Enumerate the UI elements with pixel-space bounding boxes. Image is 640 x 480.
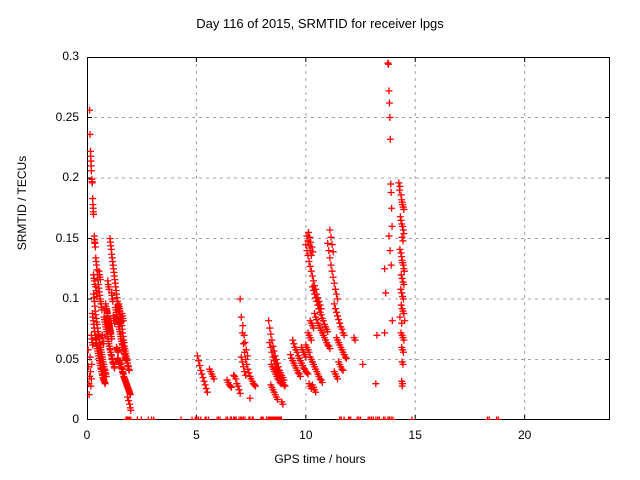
data-point-marker (311, 310, 318, 317)
data-point-marker (238, 314, 245, 321)
data-point-marker (89, 179, 96, 186)
data-point-marker (308, 252, 315, 259)
data-point-marker (306, 258, 313, 265)
data-point-marker (138, 417, 145, 421)
data-point-marker (237, 390, 244, 397)
data-point-marker (388, 262, 395, 269)
data-point-marker (400, 230, 407, 237)
data-point-marker (381, 265, 388, 272)
data-point-marker (250, 417, 257, 421)
x-tick-label: 15 (385, 428, 445, 442)
data-point-marker (381, 329, 388, 336)
data-point-marker (236, 386, 243, 393)
data-point-marker (331, 300, 338, 307)
data-point-marker (87, 391, 93, 398)
y-tick-label: 0.05 (1, 352, 79, 366)
data-point-marker (399, 275, 406, 282)
data-point-marker (387, 181, 394, 188)
x-tick-label: 10 (276, 428, 336, 442)
x-tick-label: 20 (495, 428, 555, 442)
data-point-marker (89, 195, 96, 202)
data-point-marker (197, 367, 204, 374)
data-point-marker (88, 167, 95, 174)
data-point-marker (384, 60, 391, 67)
data-point-marker (385, 233, 392, 240)
data-point-marker (359, 361, 366, 368)
data-point-marker (396, 187, 403, 194)
data-point-marker (398, 217, 405, 224)
data-point-marker (357, 417, 364, 421)
data-point-marker (125, 397, 132, 404)
data-point-marker (386, 99, 393, 106)
data-point-marker (398, 250, 405, 257)
data-point-marker (178, 417, 185, 421)
gridlines (87, 57, 610, 420)
data-point-marker (373, 332, 380, 339)
data-point-marker (387, 247, 394, 254)
data-point-marker (199, 374, 206, 381)
page-title: Day 116 of 2015, SRMTID for receiver lpg… (0, 16, 640, 31)
data-point-marker (389, 317, 396, 324)
data-point-marker (399, 237, 406, 244)
data-point-marker (385, 61, 392, 68)
data-point-marker (309, 273, 316, 280)
data-point-marker (387, 136, 394, 143)
x-tick-label: 0 (57, 428, 117, 442)
data-point-marker (385, 87, 392, 94)
data-point-marker (239, 322, 246, 329)
data-point-marker (204, 389, 211, 396)
data-point-marker (372, 380, 379, 387)
data-point-marker (495, 417, 502, 421)
data-point-marker (327, 262, 334, 269)
data-point-marker (266, 325, 273, 332)
data-point-marker (333, 309, 340, 316)
data-point-marker (335, 316, 342, 323)
data-point-marker (395, 179, 402, 186)
data-point-marker (87, 346, 92, 353)
data-point-marker (388, 205, 395, 212)
data-point-marker (198, 371, 205, 378)
data-point-marker (334, 312, 341, 319)
data-point-marker (388, 189, 395, 196)
data-point-marker (325, 247, 332, 254)
data-points (87, 60, 502, 420)
data-point-marker (389, 417, 396, 421)
data-point-marker (398, 191, 405, 198)
x-axis-label: GPS time / hours (0, 452, 640, 466)
data-point-marker (237, 296, 244, 303)
data-point-marker (265, 317, 272, 324)
data-point-marker (201, 378, 208, 385)
data-point-marker (386, 114, 393, 121)
data-point-marker (408, 417, 415, 421)
data-point-marker (290, 340, 297, 347)
data-point-marker (203, 385, 210, 392)
y-tick-label: 0.2 (1, 170, 79, 184)
data-point-marker (289, 337, 296, 344)
data-point-marker (330, 248, 337, 255)
data-point-marker (194, 352, 201, 359)
data-point-marker (396, 314, 403, 321)
data-point-marker (310, 277, 317, 284)
data-point-marker (332, 305, 339, 312)
data-point-marker (326, 227, 333, 234)
data-point-marker (332, 286, 339, 293)
data-point-marker (327, 234, 334, 241)
data-point-marker (333, 291, 340, 298)
data-point-marker (336, 320, 343, 327)
y-tick-label: 0.1 (1, 291, 79, 305)
data-point-marker (92, 243, 99, 250)
data-point-marker (399, 234, 406, 241)
x-tick-label: 5 (166, 428, 226, 442)
data-point-marker (307, 263, 314, 270)
data-point-marker (486, 417, 493, 421)
data-point-marker (389, 223, 396, 230)
data-point-marker (329, 268, 336, 275)
data-point-marker (382, 289, 389, 296)
data-point-marker (400, 227, 407, 234)
y-tick-label: 0.15 (1, 231, 79, 245)
scatter-plot-canvas (87, 57, 610, 420)
plot-area (87, 57, 610, 420)
data-point-marker (126, 401, 133, 408)
y-axis-label: SRMTID / TECUs (15, 123, 29, 283)
data-point-marker (87, 107, 93, 114)
data-point-marker (287, 351, 294, 358)
data-point-marker (241, 339, 248, 346)
data-point-marker (330, 274, 337, 281)
y-tick-label: 0.25 (1, 110, 79, 124)
data-point-marker (267, 331, 274, 338)
data-point-marker (87, 131, 94, 138)
data-point-marker (196, 362, 203, 369)
y-tick-label: 0 (1, 412, 79, 426)
data-point-marker (126, 367, 133, 374)
data-point-marker (326, 254, 333, 261)
data-point-marker (240, 340, 247, 347)
data-point-marker (398, 289, 405, 296)
data-point-marker (247, 395, 254, 402)
data-point-marker (331, 280, 338, 287)
data-point-marker (202, 381, 209, 388)
chart-page: Day 116 of 2015, SRMTID for receiver lpg… (0, 0, 640, 480)
data-point-marker (334, 296, 341, 303)
data-point-marker (111, 364, 118, 371)
data-point-marker (329, 241, 336, 248)
data-point-marker (397, 213, 404, 220)
data-point-marker (308, 268, 315, 275)
y-tick-label: 0.3 (1, 49, 79, 63)
data-point-marker (396, 246, 403, 253)
data-point-marker (398, 302, 405, 309)
data-point-marker (324, 240, 331, 247)
